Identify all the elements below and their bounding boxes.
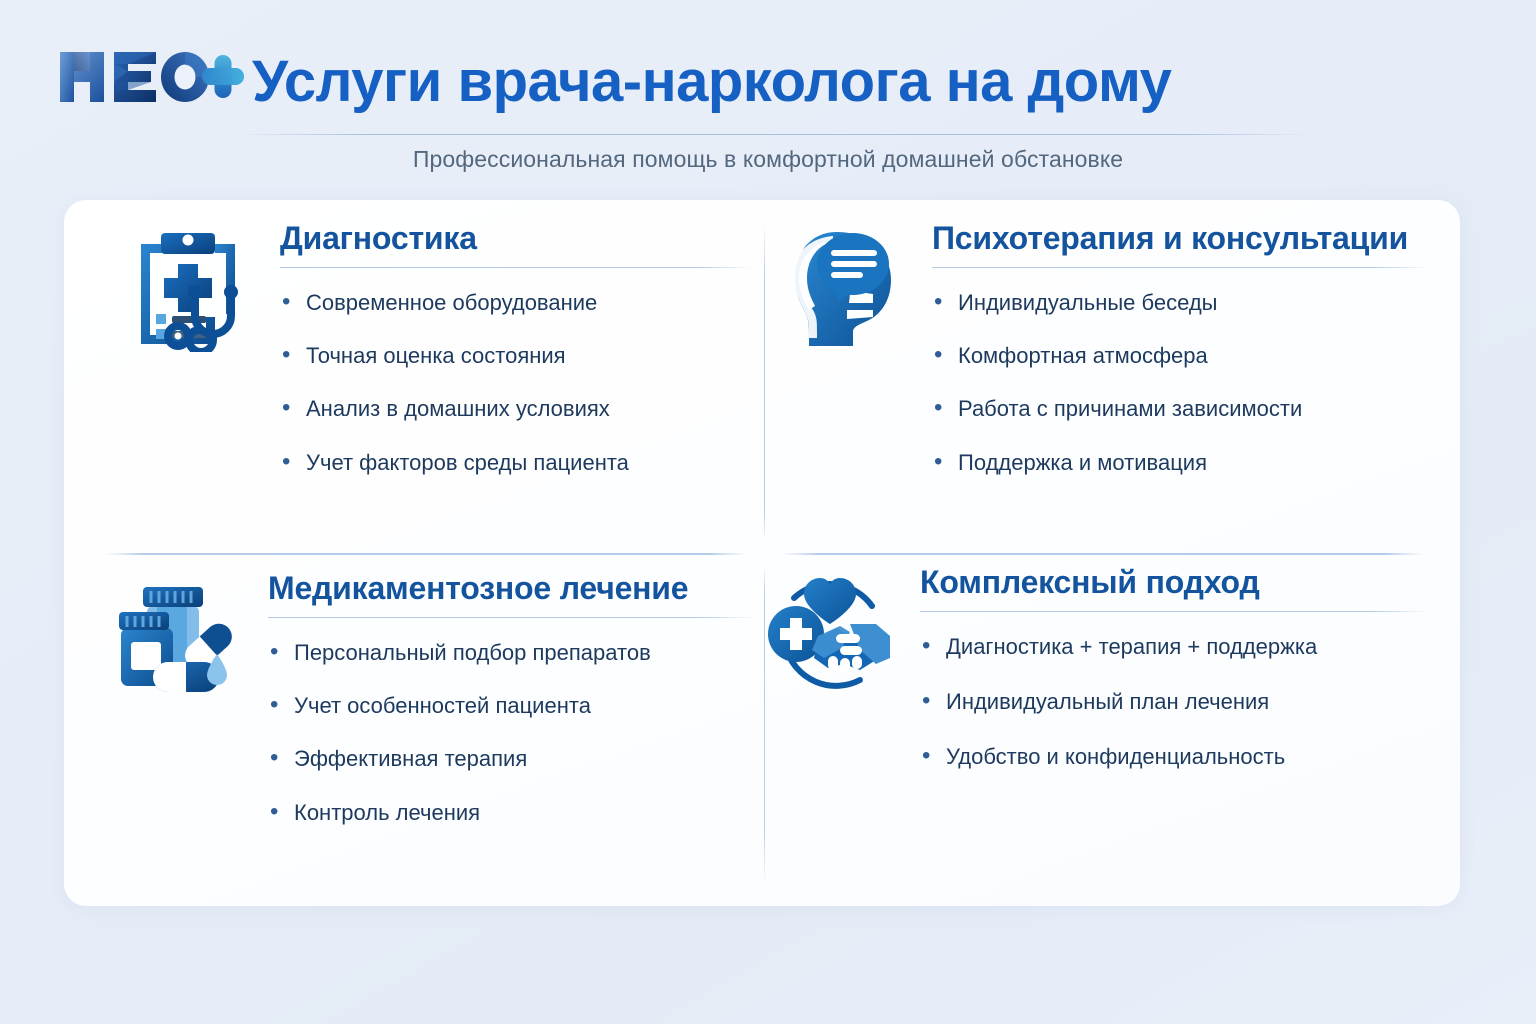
vertical-divider-top — [764, 222, 765, 535]
list-item: Современное оборудование — [280, 290, 754, 316]
list-item: Анализ в домашних условиях — [280, 396, 754, 422]
list-item: Персональный подбор препаратов — [268, 640, 756, 666]
list-item: Точная оценка состояния — [280, 343, 754, 369]
neo-plus-logo-icon — [56, 46, 246, 108]
card-bullet-list: Диагностика + терапия + поддержка Индиви… — [920, 634, 1430, 771]
services-panel: Диагностика Современное оборудование Точ… — [64, 200, 1460, 906]
list-item: Контроль лечения — [268, 800, 756, 826]
card-title-underline — [268, 617, 756, 618]
service-card-diagnostics[interactable]: Диагностика Современное оборудование Точ… — [124, 222, 754, 476]
card-title: Диагностика — [280, 222, 754, 256]
page-subtitle: Профессиональная помощь в комфортной дом… — [0, 146, 1536, 173]
list-item: Диагностика + терапия + поддержка — [920, 634, 1430, 660]
page-header: Услуги врача-нарколога на дому Профессио… — [0, 0, 1536, 190]
card-title: Медикаментозное лечение — [268, 572, 756, 606]
list-item: Работа с причинами зависимости — [932, 396, 1430, 422]
card-bullet-list: Современное оборудование Точная оценка с… — [280, 290, 754, 477]
list-item: Индивидуальный план лечения — [920, 689, 1430, 715]
pills-bottles-icon — [110, 572, 238, 826]
card-bullet-list: Индивидуальные беседы Комфортная атмосфе… — [932, 290, 1430, 477]
card-bullet-list: Персональный подбор препаратов Учет особ… — [268, 640, 756, 827]
card-title-underline — [280, 267, 754, 268]
list-item: Эффективная терапия — [268, 746, 756, 772]
list-item: Удобство и конфиденциальность — [920, 744, 1430, 770]
card-title-underline — [920, 611, 1430, 612]
brand-logo — [56, 46, 246, 108]
service-card-complex-approach[interactable]: Комплексный подход Диагностика + терапия… — [764, 566, 1430, 771]
horizontal-divider-left — [106, 553, 746, 555]
list-item: Комфортная атмосфера — [932, 343, 1430, 369]
list-item: Поддержка и мотивация — [932, 450, 1430, 476]
service-card-psychotherapy[interactable]: Психотерапия и консультации Индивидуальн… — [782, 222, 1430, 476]
list-item: Индивидуальные беседы — [932, 290, 1430, 316]
head-speech-bubble-icon — [782, 222, 910, 476]
horizontal-divider-right — [782, 553, 1422, 555]
clipboard-stethoscope-icon — [124, 222, 252, 476]
card-title-underline — [932, 267, 1430, 268]
heart-handshake-cross-icon — [764, 566, 892, 771]
card-title: Психотерапия и консультации — [932, 222, 1430, 256]
list-item: Учет особенностей пациента — [268, 693, 756, 719]
list-item: Учет факторов среды пациента — [280, 450, 754, 476]
header-divider — [236, 134, 1308, 135]
service-card-medication[interactable]: Медикаментозное лечение Персональный под… — [110, 572, 756, 826]
card-title: Комплексный подход — [920, 566, 1430, 600]
page-title: Услуги врача-нарколога на дому — [252, 48, 1171, 115]
